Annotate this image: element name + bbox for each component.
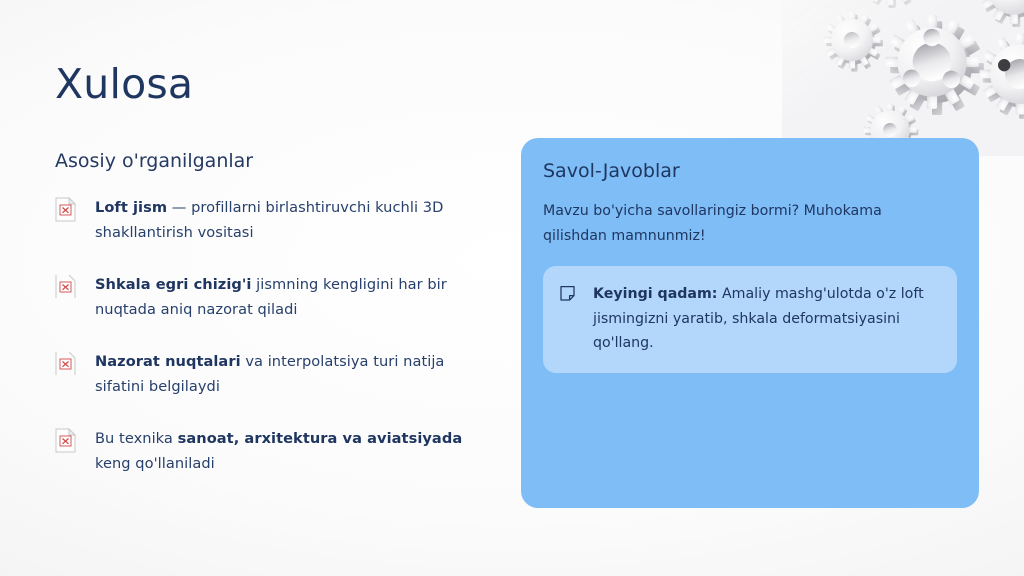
section-heading: Asosiy o'rganilganlar xyxy=(55,150,495,173)
key-takeaways-section: Asosiy o'rganilganlar Loft jism — profil… xyxy=(55,150,495,477)
list-item: Nazorat nuqtalari va interpolatsiya turi… xyxy=(55,349,495,399)
next-step-text: Keyingi qadam: Amaliy mashg'ulotda o'z l… xyxy=(593,282,939,355)
broken-image-icon xyxy=(55,428,76,453)
list-item-bold: Shkala egri chizig'i xyxy=(95,276,251,293)
takeaways-list: Loft jism — profillarni birlashtiruvchi … xyxy=(55,195,495,477)
list-item: Loft jism — profillarni birlashtiruvchi … xyxy=(55,195,495,245)
qa-panel-body: Mavzu bo'yicha savollaringiz bormi? Muho… xyxy=(543,199,935,249)
list-item-rest: keng qo'llaniladi xyxy=(95,455,215,472)
broken-image-icon xyxy=(55,351,76,376)
list-item: Bu texnika sanoat, arxitektura va aviats… xyxy=(55,426,495,476)
note-icon xyxy=(559,285,576,302)
gears-artwork xyxy=(782,0,1024,156)
list-item-text: Loft jism — profillarni birlashtiruvchi … xyxy=(95,195,495,245)
broken-image-icon xyxy=(55,197,76,222)
list-item: Shkala egri chizig'i jismning kengligini… xyxy=(55,272,495,322)
page-title: Xulosa xyxy=(55,62,193,107)
next-step-card: Keyingi qadam: Amaliy mashg'ulotda o'z l… xyxy=(543,266,957,372)
slide-canvas: Xulosa Asosiy o'rganilganlar Loft jism —… xyxy=(0,0,1024,576)
list-item-text: Shkala egri chizig'i jismning kengligini… xyxy=(95,272,495,322)
list-item-bold: sanoat, arxitektura va aviatsiyada xyxy=(178,430,463,447)
qa-panel: Savol-Javoblar Mavzu bo'yicha savollarin… xyxy=(521,138,979,508)
list-item-text: Bu texnika sanoat, arxitektura va aviats… xyxy=(95,426,495,476)
next-step-bold: Keyingi qadam: xyxy=(593,286,717,302)
list-item-bold: Loft jism xyxy=(95,199,167,216)
list-item-lead: Bu texnika xyxy=(95,430,178,447)
list-item-text: Nazorat nuqtalari va interpolatsiya turi… xyxy=(95,349,495,399)
broken-image-icon xyxy=(55,274,76,299)
qa-panel-title: Savol-Javoblar xyxy=(543,160,957,183)
list-item-bold: Nazorat nuqtalari xyxy=(95,353,241,370)
